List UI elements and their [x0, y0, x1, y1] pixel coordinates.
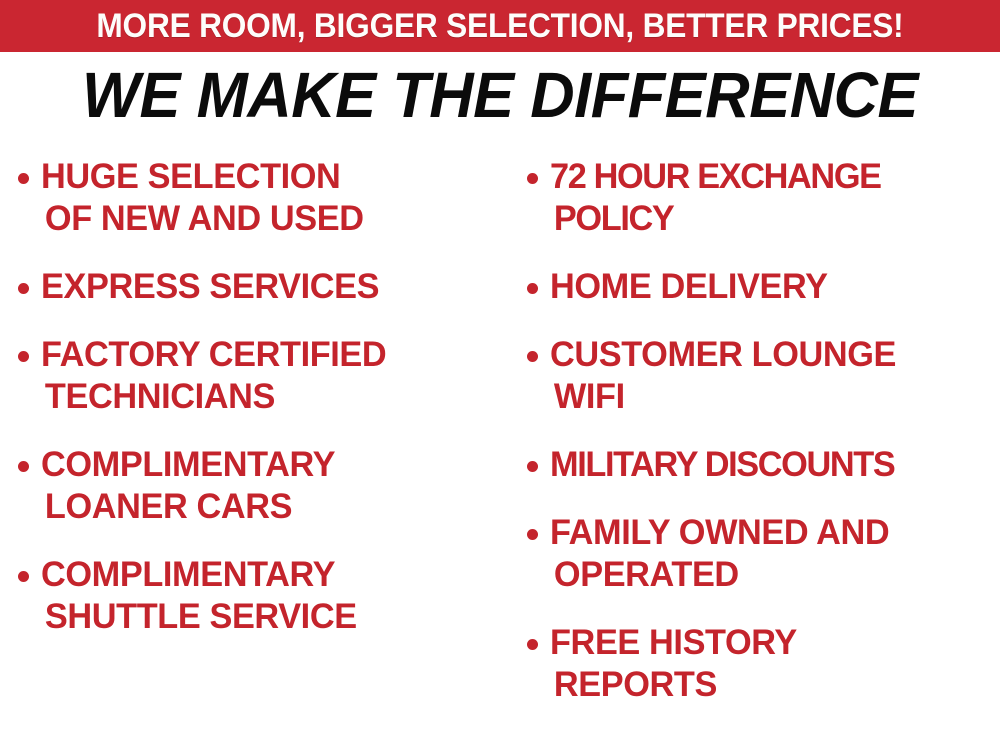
list-item-line2: REPORTS: [554, 664, 989, 706]
list-item-line2: WIFI: [554, 376, 989, 418]
list-item-text: COMPLIMENTARY LOANER CARS: [41, 444, 492, 528]
bullet-dot-icon: [527, 173, 538, 184]
bullet-dot-icon: [18, 461, 29, 472]
list-item: COMPLIMENTARY LOANER CARS: [18, 444, 501, 528]
top-banner-text: MORE ROOM, BIGGER SELECTION, BETTER PRIC…: [96, 9, 903, 43]
list-item-line2: TECHNICIANS: [45, 376, 492, 418]
top-banner: MORE ROOM, BIGGER SELECTION, BETTER PRIC…: [0, 0, 1000, 52]
list-item: FAMILY OWNED AND OPERATED: [527, 512, 998, 596]
list-item-line1: HOME DELIVERY: [550, 267, 828, 306]
list-item-text: FACTORY CERTIFIED TECHNICIANS: [41, 334, 492, 418]
list-item: CUSTOMER LOUNGE WIFI: [527, 334, 998, 418]
list-item: 72 HOUR EXCHANGE POLICY: [527, 156, 998, 240]
list-item-text: 72 HOUR EXCHANGE POLICY: [550, 156, 989, 240]
benefits-column-right: 72 HOUR EXCHANGE POLICY HOME DELIVERY CU…: [505, 156, 1000, 732]
list-item-line2: OF NEW AND USED: [45, 198, 492, 240]
bullet-dot-icon: [18, 283, 29, 294]
list-item-line1: FACTORY CERTIFIED: [41, 335, 386, 374]
list-item-line1: MILITARY DISCOUNTS: [550, 445, 894, 484]
benefits-columns: HUGE SELECTION OF NEW AND USED EXPRESS S…: [0, 156, 1000, 694]
list-item: FREE HISTORY REPORTS: [527, 622, 998, 706]
list-item-text: MILITARY DISCOUNTS: [550, 444, 989, 486]
list-item-line1: HUGE SELECTION: [41, 157, 340, 196]
list-item-text: HOME DELIVERY: [550, 266, 989, 308]
list-item-text: CUSTOMER LOUNGE WIFI: [550, 334, 989, 418]
list-item-line2: SHUTTLE SERVICE: [45, 596, 492, 638]
bullet-dot-icon: [18, 571, 29, 582]
bullet-dot-icon: [527, 639, 538, 650]
list-item-line1: EXPRESS SERVICES: [41, 267, 379, 306]
list-item: HUGE SELECTION OF NEW AND USED: [18, 156, 501, 240]
list-item-line1: CUSTOMER LOUNGE: [550, 335, 896, 374]
list-item: HOME DELIVERY: [527, 266, 998, 308]
list-item: FACTORY CERTIFIED TECHNICIANS: [18, 334, 501, 418]
list-item-line1: COMPLIMENTARY: [41, 445, 335, 484]
bullet-dot-icon: [527, 461, 538, 472]
list-item: EXPRESS SERVICES: [18, 266, 501, 308]
list-item-line1: COMPLIMENTARY: [41, 555, 335, 594]
list-item-text: HUGE SELECTION OF NEW AND USED: [41, 156, 492, 240]
list-item-line2: LOANER CARS: [45, 486, 492, 528]
list-item-line1: FREE HISTORY: [550, 623, 797, 662]
list-item-text: FREE HISTORY REPORTS: [550, 622, 989, 706]
list-item-line2: POLICY: [554, 198, 989, 240]
list-item-line1: FAMILY OWNED AND: [550, 513, 889, 552]
list-item: MILITARY DISCOUNTS: [527, 444, 998, 486]
bullet-dot-icon: [527, 529, 538, 540]
bullet-dot-icon: [18, 173, 29, 184]
page-title: WE MAKE THE DIFFERENCE: [20, 60, 980, 130]
list-item-text: FAMILY OWNED AND OPERATED: [550, 512, 989, 596]
list-item-line1: 72 HOUR EXCHANGE: [550, 157, 881, 196]
bullet-dot-icon: [527, 351, 538, 362]
list-item: COMPLIMENTARY SHUTTLE SERVICE: [18, 554, 501, 638]
list-item-text: EXPRESS SERVICES: [41, 266, 492, 308]
promo-poster: MORE ROOM, BIGGER SELECTION, BETTER PRIC…: [0, 0, 1000, 694]
bullet-dot-icon: [18, 351, 29, 362]
list-item-text: COMPLIMENTARY SHUTTLE SERVICE: [41, 554, 492, 638]
list-item-line2: OPERATED: [554, 554, 989, 596]
bullet-dot-icon: [527, 283, 538, 294]
benefits-column-left: HUGE SELECTION OF NEW AND USED EXPRESS S…: [0, 156, 505, 664]
